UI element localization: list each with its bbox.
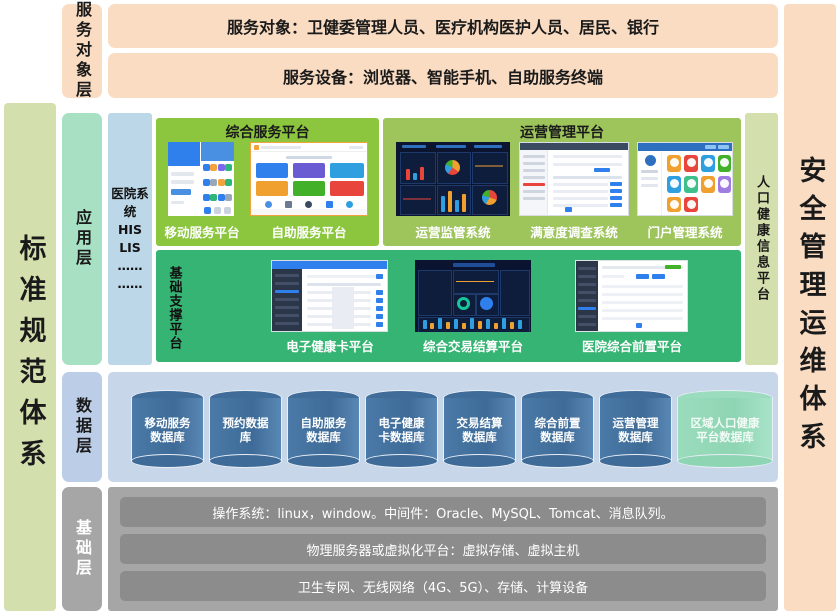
his-line-1: HIS	[108, 221, 152, 239]
layer-label-application: 应用层	[62, 113, 102, 365]
caption-transaction-settlement-platform: 综合交易结算平台	[408, 336, 538, 355]
infrastructure-layer-panel: 操作系统：linux，window。中间件：Oracle、MySQL、Tomca…	[108, 487, 778, 611]
group-comprehensive-service-platform: 综合服务平台	[156, 118, 379, 246]
thumbnail-transaction-settlement-platform[interactable]	[415, 260, 531, 332]
basic-support-platform-vertical-label: 基础支撑平台	[161, 264, 187, 352]
database-cylinder[interactable]: 交易结算 数据库	[443, 390, 516, 468]
db-label-line: 区域人口健康	[677, 416, 773, 430]
infra-row-network-text: 卫生专网、无线网络（4G、5G）、存储、计算设备	[298, 577, 588, 596]
data-layer-panel: 移动服务 数据库 预约数据 库 自助服务 数据库 电子健康 卡数据库	[108, 372, 778, 482]
thumbnail-self-service-platform[interactable]	[250, 142, 368, 216]
standards-system-band: 标准规范体系	[4, 103, 56, 611]
caption-hospital-front-end-platform: 医院综合前置平台	[568, 336, 696, 355]
basic-support-platform-title: 基础支撑平台	[165, 266, 184, 350]
db-label-line: 电子健康	[365, 416, 438, 430]
group-title-operation: 运营管理平台	[383, 122, 741, 142]
caption-self-service-platform: 自助服务平台	[244, 222, 374, 241]
population-health-platform-label: 人口健康信息平台	[752, 175, 771, 303]
layer-label-data: 数据层	[62, 372, 102, 482]
db-label-line: 交易结算	[443, 416, 516, 430]
service-device-bar: 服务设备：浏览器、智能手机、自助服务终端	[108, 53, 778, 98]
hospital-system-column: 医院系统 HIS LIS …… ……	[108, 113, 152, 365]
caption-portal-management-system: 门户管理系统	[631, 222, 739, 241]
database-cylinder[interactable]: 移动服务 数据库	[131, 390, 204, 468]
architecture-diagram: 标准规范体系 安全管理运维体系 服务对象层 应用层 数据层 基础层 服务对象：卫…	[0, 0, 839, 615]
his-line-2: LIS	[108, 239, 152, 257]
caption-satisfaction-survey-system: 满意度调查系统	[513, 222, 635, 241]
layer-label-data-text: 数据层	[70, 397, 94, 457]
his-line-3: …… ……	[108, 257, 152, 293]
caption-operation-supervision-system: 运营监管系统	[391, 222, 515, 241]
infra-row-network: 卫生专网、无线网络（4G、5G）、存储、计算设备	[120, 571, 766, 601]
population-health-platform-column: 人口健康信息平台	[745, 113, 778, 365]
thumbnail-hospital-front-end-platform[interactable]	[575, 260, 688, 332]
db-label-line: 预约数据	[209, 416, 282, 430]
db-label-line: 平台数据库	[677, 430, 773, 444]
db-label-line: 数据库	[287, 430, 360, 444]
standards-system-label: 标准规范体系	[11, 234, 50, 480]
database-cylinder[interactable]: 预约数据 库	[209, 390, 282, 468]
hospital-system-text: 医院系统 HIS LIS …… ……	[108, 185, 152, 294]
layer-label-service-object-text: 服务对象层	[70, 1, 94, 101]
thumbnail-portal-management-system[interactable]	[637, 142, 733, 216]
layer-label-service-object: 服务对象层	[62, 4, 102, 98]
layer-label-infrastructure: 基础层	[62, 487, 102, 611]
infra-row-servers: 物理服务器或虚拟化平台：虚拟存储、虚拟主机	[120, 534, 766, 564]
thumbnail-ehealth-card-platform[interactable]	[271, 260, 388, 332]
infra-row-os-middleware-text: 操作系统：linux，window。中间件：Oracle、MySQL、Tomca…	[212, 503, 673, 522]
db-label-line: 运营管理	[599, 416, 672, 430]
db-label-line: 自助服务	[287, 416, 360, 430]
thumbnail-satisfaction-survey-system[interactable]	[519, 142, 629, 216]
db-label-line: 数据库	[599, 430, 672, 444]
database-cylinder[interactable]: 综合前置 数据库	[521, 390, 594, 468]
caption-ehealth-card-platform: 电子健康卡平台	[266, 336, 394, 355]
service-target-text: 服务对象：卫健委管理人员、医疗机构医护人员、居民、银行	[227, 14, 659, 38]
service-target-bar: 服务对象：卫健委管理人员、医疗机构医护人员、居民、银行	[108, 4, 778, 48]
security-ops-system-label: 安全管理运维体系	[791, 156, 830, 460]
database-cylinder[interactable]: 电子健康 卡数据库	[365, 390, 438, 468]
service-device-text: 服务设备：浏览器、智能手机、自助服务终端	[283, 64, 603, 88]
infra-row-servers-text: 物理服务器或虚拟化平台：虚拟存储、虚拟主机	[306, 540, 579, 559]
db-label-line: 移动服务	[131, 416, 204, 430]
database-cylinder[interactable]: 运营管理 数据库	[599, 390, 672, 468]
group-title-comprehensive: 综合服务平台	[156, 122, 379, 142]
security-ops-system-band: 安全管理运维体系	[784, 4, 836, 611]
db-label-line: 卡数据库	[365, 430, 438, 444]
db-label-line: 数据库	[443, 430, 516, 444]
his-line-0: 医院系统	[108, 185, 152, 221]
thumbnail-operation-supervision-system[interactable]	[396, 142, 510, 216]
db-label-line: 库	[209, 430, 282, 444]
database-cylinder[interactable]: 自助服务 数据库	[287, 390, 360, 468]
caption-mobile-service-platform: 移动服务平台	[162, 222, 242, 241]
layer-label-infrastructure-text: 基础层	[70, 519, 94, 579]
infra-row-os-middleware: 操作系统：linux，window。中间件：Oracle、MySQL、Tomca…	[120, 497, 766, 527]
group-operation-management-platform: 运营管理平台 运营监管系统	[383, 118, 741, 246]
database-cylinder-regional[interactable]: 区域人口健康 平台数据库	[677, 390, 773, 468]
db-label-line: 数据库	[131, 430, 204, 444]
db-label-line: 数据库	[521, 430, 594, 444]
db-label-line: 综合前置	[521, 416, 594, 430]
layer-label-application-text: 应用层	[70, 209, 94, 269]
group-basic-support-platform: 基础支撑平台 电子健康卡平台	[156, 250, 741, 362]
thumbnail-mobile-service-platform[interactable]	[168, 142, 234, 216]
